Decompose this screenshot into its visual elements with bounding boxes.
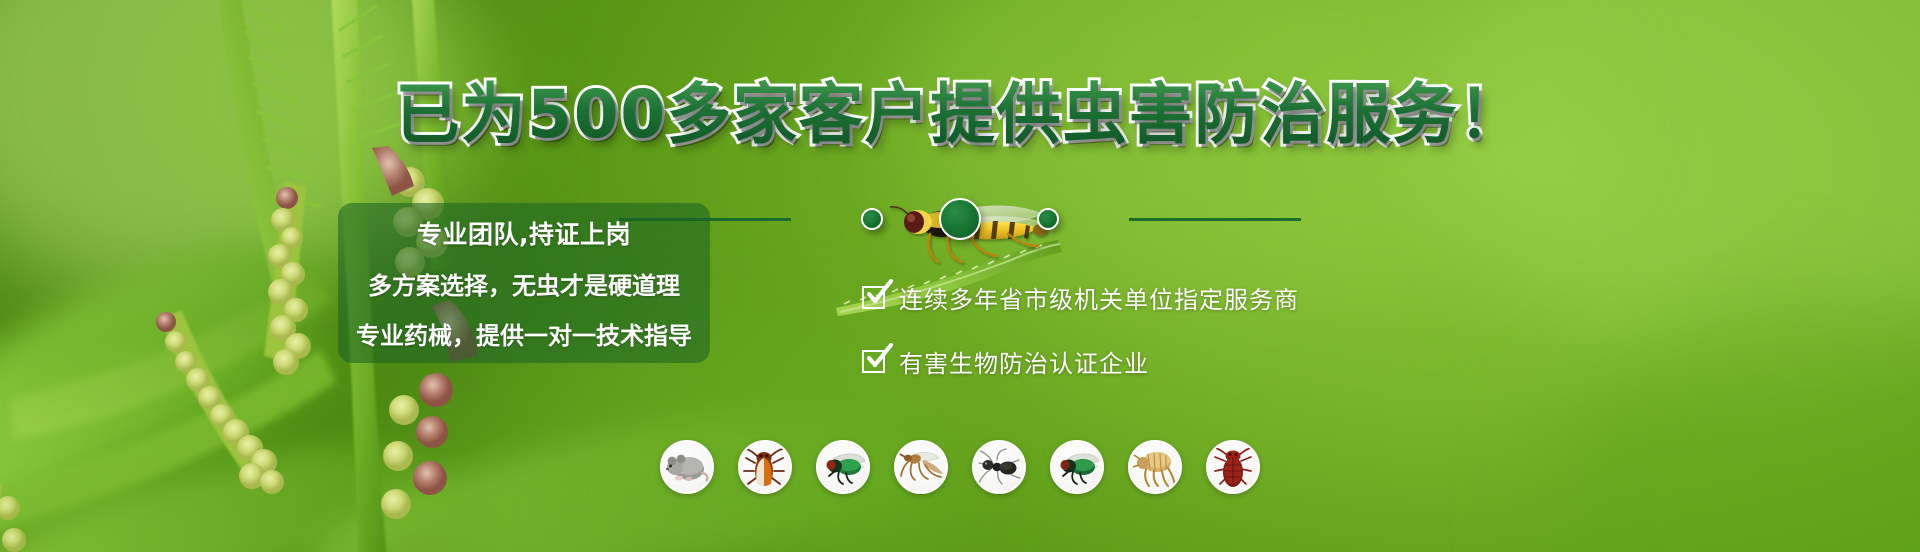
cockroach-icon[interactable] <box>738 440 792 494</box>
blowfly-icon[interactable] <box>1050 440 1104 494</box>
feature-line-3: 专业药械，提供一对一技术指导 <box>338 311 710 361</box>
feature-line-2: 多方案选择，无虫才是硬道理 <box>338 261 710 311</box>
checkbox-check-icon <box>862 350 885 373</box>
headline-text-fill: 已为500多家客户提供虫害防治服务！ <box>396 78 1525 152</box>
divider-dot-large <box>939 198 981 240</box>
feature-box: 专业团队,持证上岗 多方案选择，无虫才是硬道理 专业药械，提供一对一技术指导 <box>338 203 710 363</box>
divider-dot-small-left <box>861 208 883 230</box>
ant-icon[interactable] <box>972 440 1026 494</box>
divider-line-right <box>1129 218 1301 221</box>
divider <box>0 195 1920 243</box>
checklist-item: 有害生物防治认证企业 <box>862 336 1299 386</box>
checklist-item: 连续多年省市级机关单位指定服务商 <box>862 272 1299 322</box>
bedbug-icon[interactable] <box>1206 440 1260 494</box>
checklist: 连续多年省市级机关单位指定服务商 有害生物防治认证企业 <box>862 272 1299 386</box>
checklist-item-label: 连续多年省市级机关单位指定服务商 <box>899 280 1299 315</box>
mosquito-icon[interactable] <box>894 440 948 494</box>
divider-dot-small-right <box>1037 208 1059 230</box>
pest-icon-row <box>0 440 1920 494</box>
bokeh-blob <box>1450 0 1920 380</box>
flea-icon[interactable] <box>1128 440 1182 494</box>
headline: 已为500多家客户提供虫害防治服务！ 已为500多家客户提供虫害防治服务！ <box>0 78 1920 152</box>
pest-control-banner: 已为500多家客户提供虫害防治服务！ 已为500多家客户提供虫害防治服务！ <box>0 0 1920 552</box>
green-fly-icon[interactable] <box>816 440 870 494</box>
feature-line-1: 专业团队,持证上岗 <box>338 209 710 261</box>
checkbox-check-icon <box>862 286 885 309</box>
rat-icon[interactable] <box>660 440 714 494</box>
checklist-item-label: 有害生物防治认证企业 <box>899 344 1149 379</box>
bokeh-blob <box>1550 300 1920 552</box>
